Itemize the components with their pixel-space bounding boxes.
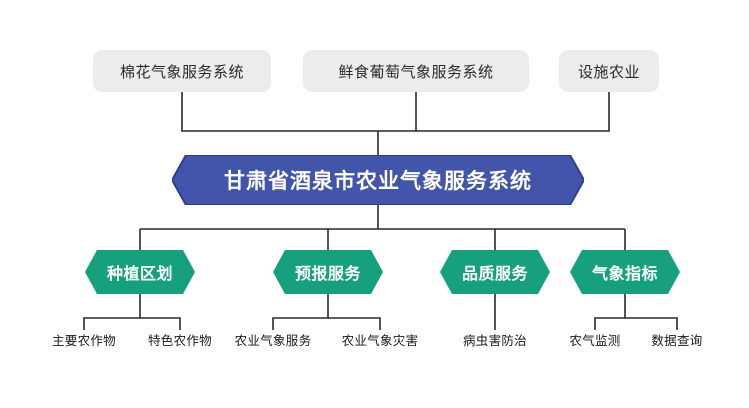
leaf-label: 数据查询 (651, 330, 702, 349)
leaf-label: 病虫害防治 (463, 330, 527, 349)
center-banner-label: 甘肃省酒泉市农业气象服务系统 (224, 165, 532, 195)
top-box-facility-agriculture[interactable]: 设施农业 (559, 50, 659, 92)
leaf-label: 特色农作物 (148, 330, 212, 349)
leaf-label: 农业气象灾害 (342, 330, 419, 349)
leaf-label: 农气监测 (569, 330, 620, 349)
top-box-label: 鲜食葡萄气象服务系统 (338, 61, 493, 82)
top-box-label: 设施农业 (578, 61, 640, 82)
diagram-canvas: 棉花气象服务系统 鲜食葡萄气象服务系统 设施农业 甘肃省酒泉市农业气象服务系统 … (0, 0, 749, 408)
top-box-grape[interactable]: 鲜食葡萄气象服务系统 (303, 50, 529, 92)
top-box-label: 棉花气象服务系统 (120, 61, 244, 82)
center-banner[interactable]: 甘肃省酒泉市农业气象服务系统 (172, 155, 584, 205)
hex-node-quality-service[interactable]: 品质服务 (440, 250, 550, 294)
hex-node-planting-zoning[interactable]: 种植区划 (85, 250, 195, 294)
hex-node-label: 种植区划 (107, 260, 173, 284)
hex-node-label: 品质服务 (462, 260, 528, 284)
leaf-data-query[interactable]: 数据查询 (625, 330, 729, 348)
hex-node-weather-index[interactable]: 气象指标 (570, 250, 680, 294)
leaf-pest-control[interactable]: 病虫害防治 (435, 330, 555, 348)
hex-node-label: 预报服务 (295, 260, 361, 284)
top-box-cotton[interactable]: 棉花气象服务系统 (93, 50, 271, 92)
hex-node-label: 气象指标 (592, 260, 658, 284)
hex-node-forecast-service[interactable]: 预报服务 (273, 250, 383, 294)
leaf-label: 农业气象服务 (235, 330, 312, 349)
leaf-label: 主要农作物 (52, 330, 116, 349)
leaf-agrometeorological-disaster[interactable]: 农业气象灾害 (313, 330, 447, 348)
